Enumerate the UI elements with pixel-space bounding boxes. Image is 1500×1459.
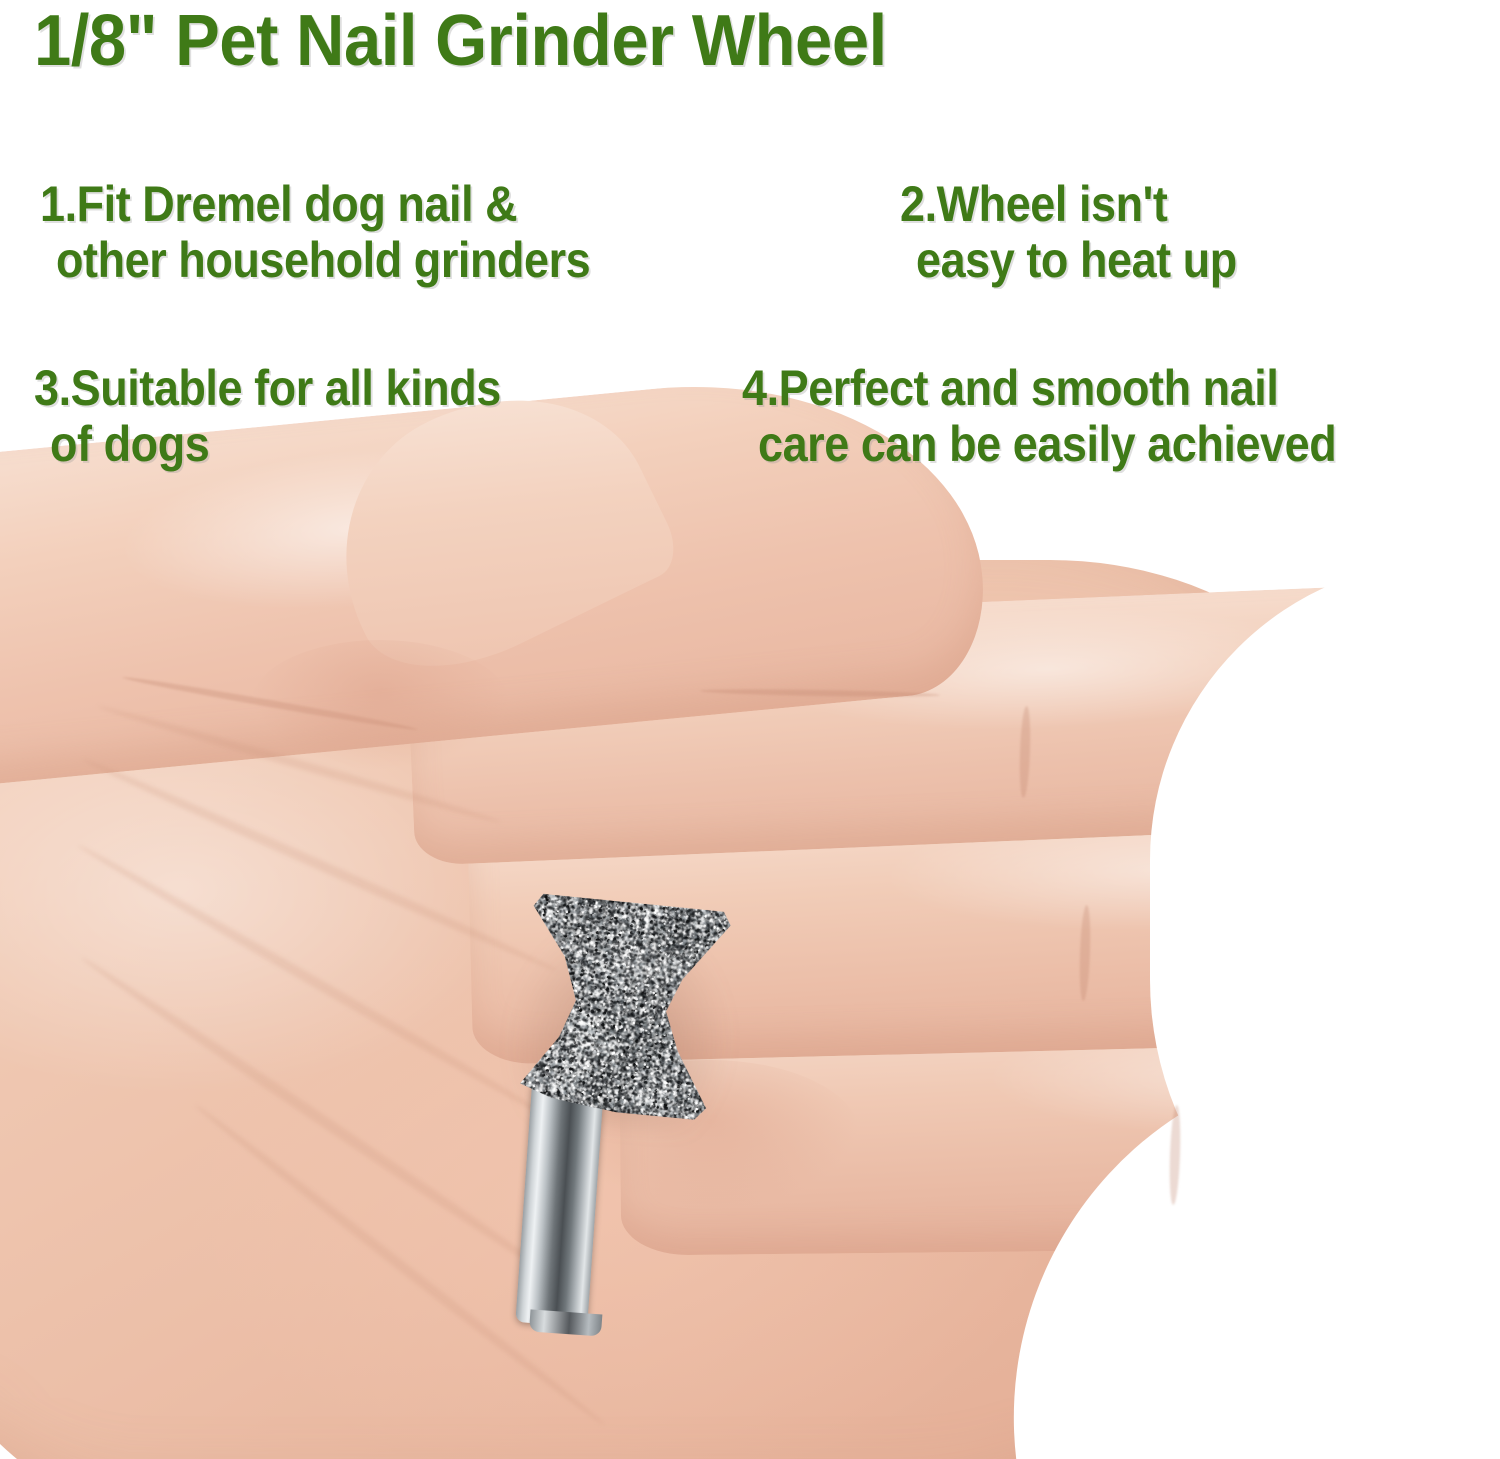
feature-3-line-1: 3.Suitable for all kinds: [34, 360, 501, 416]
page-title: 1/8" Pet Nail Grinder Wheel: [34, 5, 887, 77]
feature-4-line-2: care can be easily achieved: [758, 416, 1336, 472]
feature-item-1: 1.Fit Dremel dog nail & other household …: [40, 176, 650, 288]
feature-2-line-1: 2.Wheel isn't: [900, 176, 1235, 232]
feature-2-line-2: easy to heat up: [916, 232, 1237, 288]
feature-item-4: 4.Perfect and smooth nail care can be ea…: [742, 360, 1400, 472]
feature-3-line-2: of dogs: [50, 416, 502, 472]
feature-4-line-1: 4.Perfect and smooth nail: [742, 360, 1335, 416]
product-infographic: 1/8" Pet Nail Grinder Wheel 1.Fit Dremel…: [0, 0, 1500, 1459]
feature-1-line-2: other household grinders: [56, 232, 590, 288]
feature-1-line-1: 1.Fit Dremel dog nail &: [40, 176, 589, 232]
feature-item-2: 2.Wheel isn't easy to heat up: [900, 176, 1273, 288]
text-overlay: 1/8" Pet Nail Grinder Wheel 1.Fit Dremel…: [0, 0, 1500, 1459]
feature-item-3: 3.Suitable for all kinds of dogs: [34, 360, 553, 472]
